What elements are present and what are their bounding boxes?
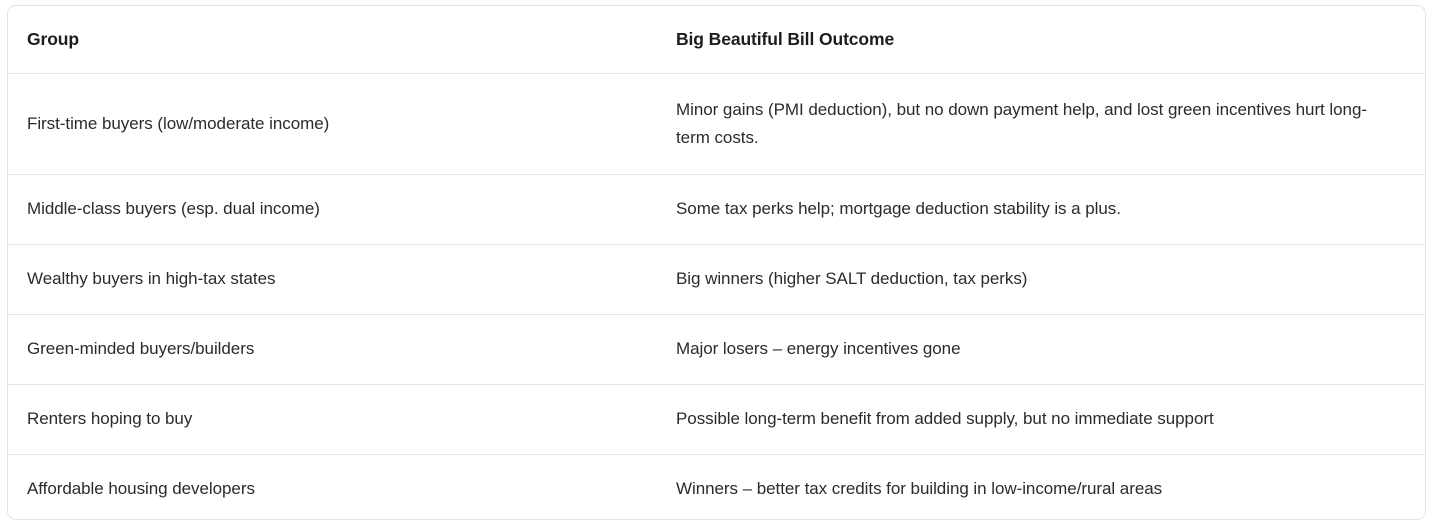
cell-outcome: Some tax perks help; mortgage deduction … xyxy=(668,174,1425,244)
outcome-text: Winners – better tax credits for buildin… xyxy=(676,475,1376,503)
outcome-text: Some tax perks help; mortgage deduction … xyxy=(676,195,1376,223)
outcome-text: Big winners (higher SALT deduction, tax … xyxy=(676,265,1376,293)
cell-outcome: Winners – better tax credits for buildin… xyxy=(668,454,1425,520)
cell-group: Middle-class buyers (esp. dual income) xyxy=(8,174,668,244)
outcome-text: Minor gains (PMI deduction), but no down… xyxy=(676,96,1376,151)
outcome-table: Group Big Beautiful Bill Outcome First-t… xyxy=(8,6,1425,520)
column-header-outcome-label: Big Beautiful Bill Outcome xyxy=(676,29,1376,50)
table-row: Wealthy buyers in high-tax states Big wi… xyxy=(8,244,1425,314)
table-row: Affordable housing developers Winners – … xyxy=(8,454,1425,520)
cell-outcome: Big winners (higher SALT deduction, tax … xyxy=(668,244,1425,314)
cell-group: Renters hoping to buy xyxy=(8,384,668,454)
cell-outcome: Major losers – energy incentives gone xyxy=(668,314,1425,384)
column-header-group: Group xyxy=(8,6,668,73)
table-row: Renters hoping to buy Possible long-term… xyxy=(8,384,1425,454)
outcome-table-card: Group Big Beautiful Bill Outcome First-t… xyxy=(7,5,1426,520)
cell-outcome: Minor gains (PMI deduction), but no down… xyxy=(668,73,1425,174)
table-row: Middle-class buyers (esp. dual income) S… xyxy=(8,174,1425,244)
group-label: Affordable housing developers xyxy=(27,475,647,503)
table-row: Green-minded buyers/builders Major loser… xyxy=(8,314,1425,384)
cell-group: First-time buyers (low/moderate income) xyxy=(8,73,668,174)
table-header: Group Big Beautiful Bill Outcome xyxy=(8,6,1425,73)
group-label: Middle-class buyers (esp. dual income) xyxy=(27,195,647,223)
group-label: Renters hoping to buy xyxy=(27,405,647,433)
table-header-row: Group Big Beautiful Bill Outcome xyxy=(8,6,1425,73)
cell-outcome: Possible long-term benefit from added su… xyxy=(668,384,1425,454)
cell-group: Green-minded buyers/builders xyxy=(8,314,668,384)
table-row: First-time buyers (low/moderate income) … xyxy=(8,73,1425,174)
cell-group: Affordable housing developers xyxy=(8,454,668,520)
outcome-text: Major losers – energy incentives gone xyxy=(676,335,1376,363)
group-label: Wealthy buyers in high-tax states xyxy=(27,265,647,293)
table-body: First-time buyers (low/moderate income) … xyxy=(8,73,1425,520)
page-root: Group Big Beautiful Bill Outcome First-t… xyxy=(0,0,1440,530)
outcome-text: Possible long-term benefit from added su… xyxy=(676,405,1376,433)
group-label: First-time buyers (low/moderate income) xyxy=(27,110,647,138)
column-header-group-label: Group xyxy=(27,29,647,50)
cell-group: Wealthy buyers in high-tax states xyxy=(8,244,668,314)
column-header-outcome: Big Beautiful Bill Outcome xyxy=(668,6,1425,73)
group-label: Green-minded buyers/builders xyxy=(27,335,647,363)
